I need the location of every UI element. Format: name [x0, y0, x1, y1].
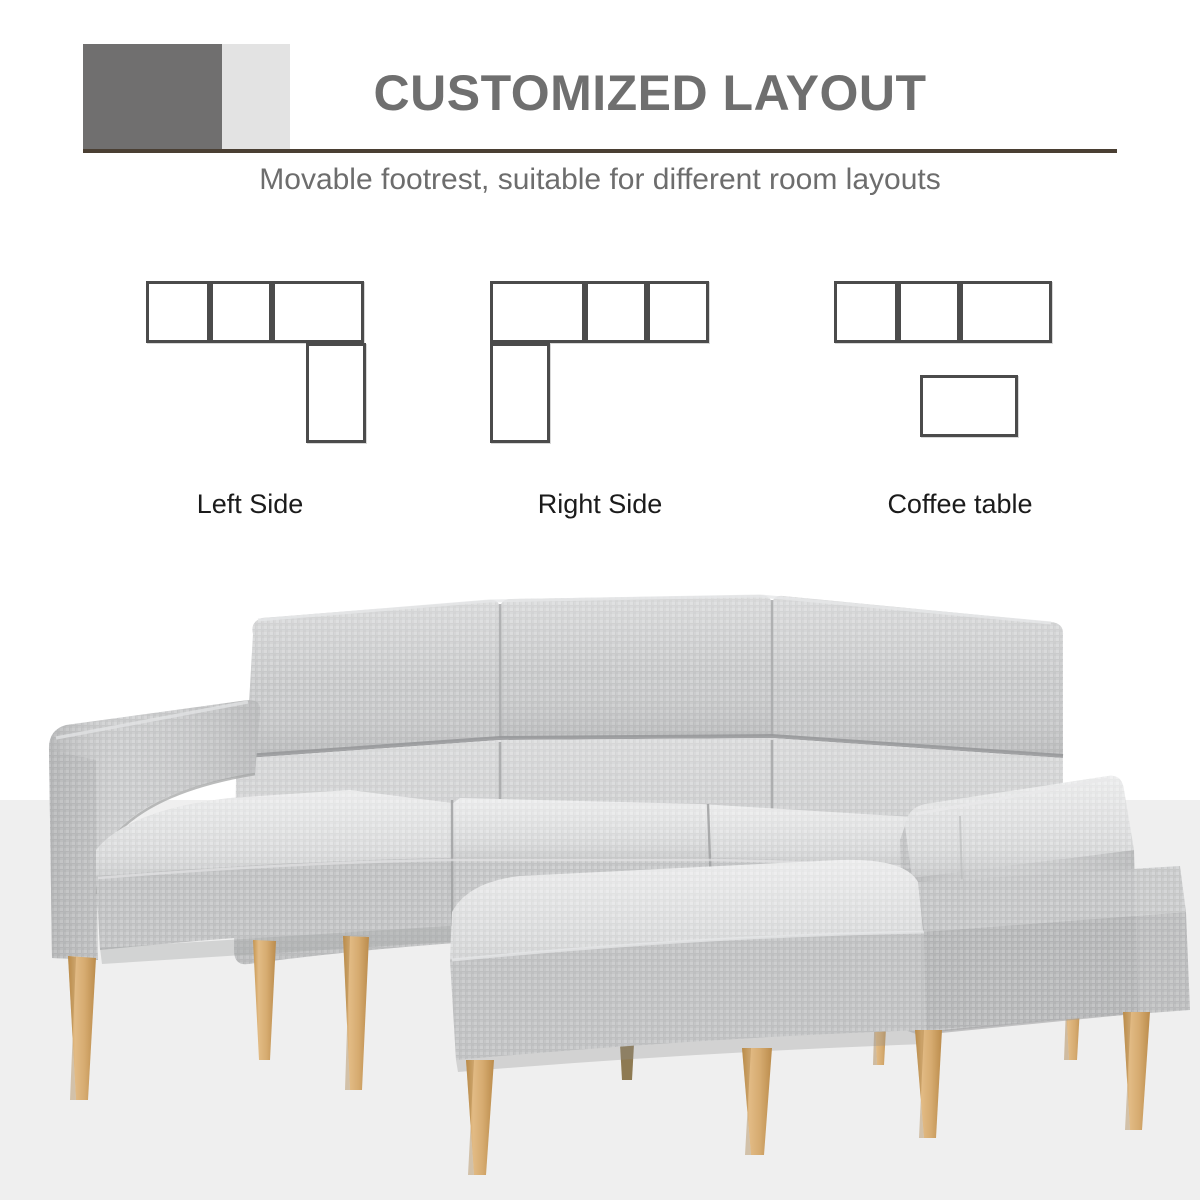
layout-label-coffee-table: Coffee table	[790, 487, 1130, 521]
layout-module-seat-square-2	[585, 281, 647, 343]
layout-label-right-side: Right Side	[430, 487, 770, 521]
footrest-ottoman[interactable]	[450, 860, 1190, 1072]
page-title: CUSTOMIZED LAYOUT	[300, 64, 1000, 122]
layout-module-seat-wide-3	[960, 281, 1052, 343]
product-image-sofa-with-footrest	[0, 560, 1200, 1200]
layout-module-seat-square-1	[146, 281, 210, 343]
layout-diagram-coffee-table	[828, 275, 1168, 455]
layout-diagram-left-side	[140, 275, 480, 455]
infographic-canvas: CUSTOMIZED LAYOUT Movable footrest, suit…	[0, 0, 1200, 1200]
layout-module-seat-square-3	[647, 281, 709, 343]
layout-module-footrest	[490, 343, 550, 443]
headrest-row	[246, 595, 1063, 756]
layout-module-footrest	[306, 343, 366, 443]
layout-module-seat-wide-3	[272, 281, 364, 343]
page-subtitle: Movable footrest, suitable for different…	[0, 160, 1200, 200]
header-divider-rule	[83, 149, 1117, 153]
layout-label-left-side: Left Side	[80, 487, 420, 521]
layout-diagram-right-side	[484, 275, 824, 455]
layout-module-seat-wide-1	[490, 281, 585, 343]
header-swatch-dark	[83, 44, 222, 149]
layout-module-seat-square-2	[898, 281, 960, 343]
layout-module-footrest	[920, 375, 1018, 437]
layout-module-seat-square-2	[210, 281, 272, 343]
layout-module-seat-square-1	[834, 281, 898, 343]
header-swatch-light	[222, 44, 290, 149]
